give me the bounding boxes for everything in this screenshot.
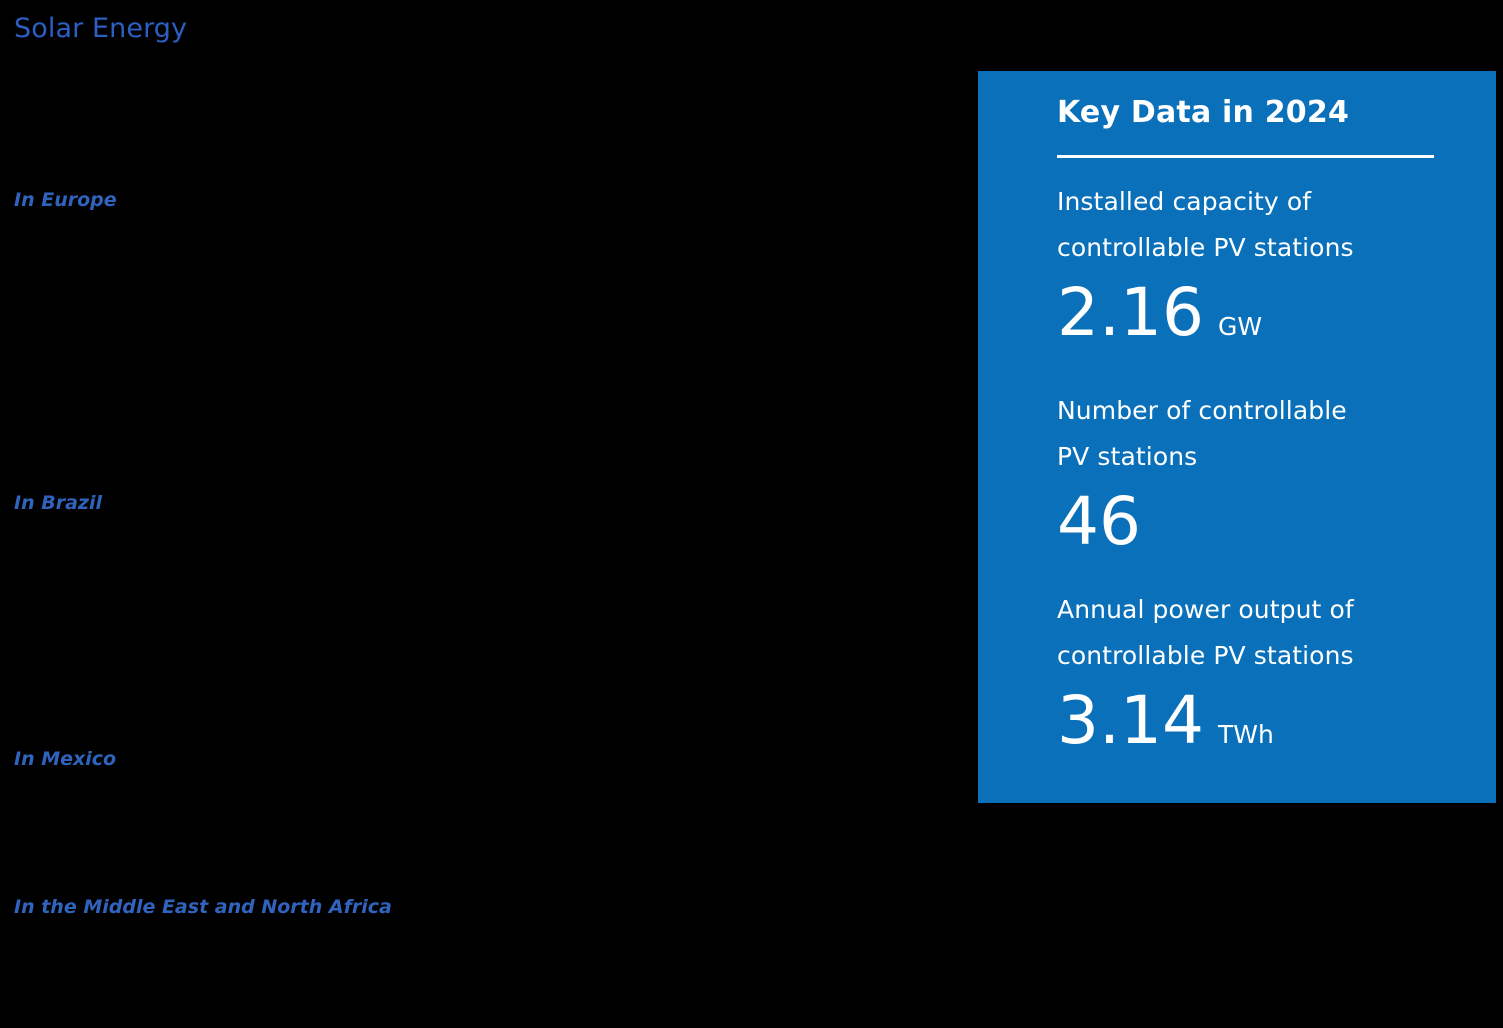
stat-value-row: 46 xyxy=(1057,486,1477,558)
stat-value: 2.16 xyxy=(1057,277,1204,349)
stat-label-line1: Annual power output of xyxy=(1057,587,1477,633)
stat-value: 46 xyxy=(1057,486,1141,558)
section-heading-mexico: In Mexico xyxy=(14,747,116,771)
key-data-panel-title: Key Data in 2024 xyxy=(1057,94,1349,132)
stat-value: 3.14 xyxy=(1057,685,1204,757)
section-heading-brazil: In Brazil xyxy=(14,491,102,515)
stat-unit: TWh xyxy=(1218,720,1274,750)
section-heading-middle-east-north-africa: In the Middle East and North Africa xyxy=(14,895,392,919)
stat-label-line2: PV stations xyxy=(1057,434,1477,480)
key-data-panel: Key Data in 2024 Installed capacity of c… xyxy=(978,71,1496,803)
page-title: Solar Energy xyxy=(14,12,187,46)
key-data-divider xyxy=(1057,155,1434,158)
stat-label-line2: controllable PV stations xyxy=(1057,633,1477,679)
stat-installed-capacity: Installed capacity of controllable PV st… xyxy=(1057,179,1477,349)
stat-label-line2: controllable PV stations xyxy=(1057,225,1477,271)
section-heading-europe: In Europe xyxy=(14,188,117,212)
stat-unit: GW xyxy=(1218,312,1262,342)
stat-label-line1: Installed capacity of xyxy=(1057,179,1477,225)
stat-annual-power-output: Annual power output of controllable PV s… xyxy=(1057,587,1477,757)
stat-value-row: 3.14 TWh xyxy=(1057,685,1477,757)
stat-label-line1: Number of controllable xyxy=(1057,388,1477,434)
stat-value-row: 2.16 GW xyxy=(1057,277,1477,349)
stat-number-of-stations: Number of controllable PV stations 46 xyxy=(1057,388,1477,558)
